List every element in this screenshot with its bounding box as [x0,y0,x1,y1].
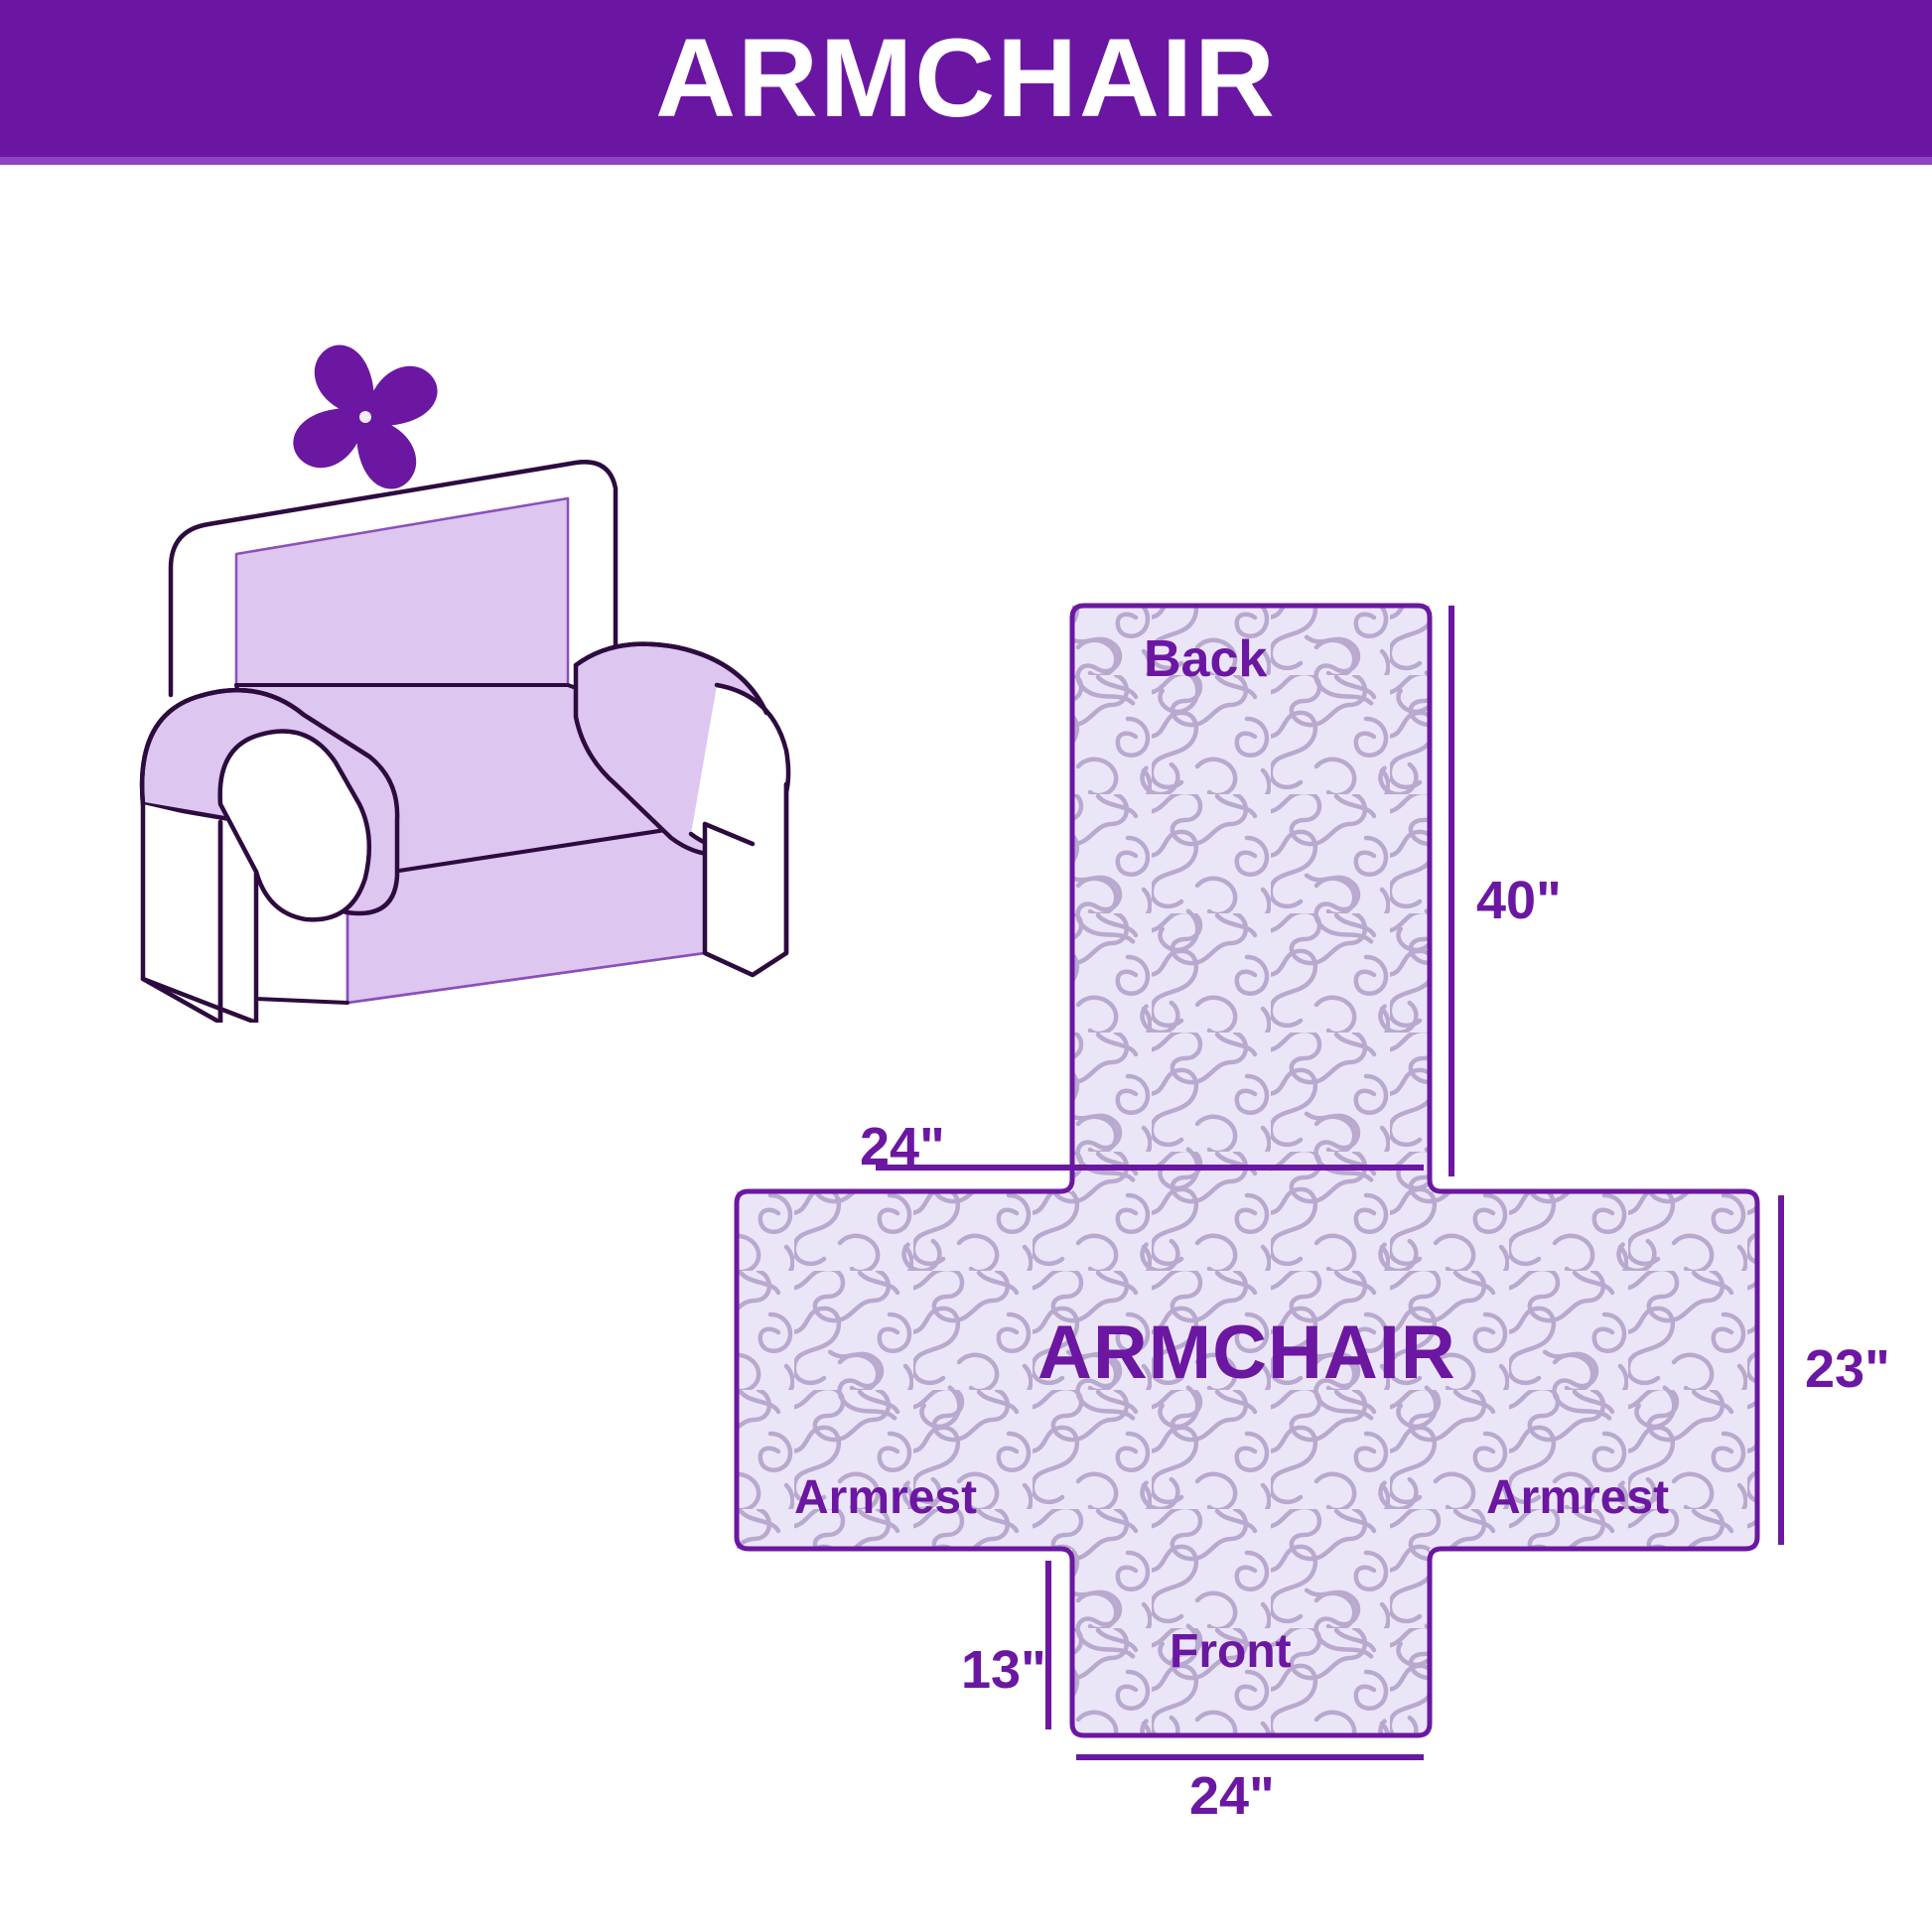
header-banner-underline [0,157,1932,165]
slipcover-cross-diagram [556,556,1932,1932]
dimension-label-front-height: 13" [961,1643,1046,1697]
panel-label-armrest-right: Armrest [1486,1474,1669,1522]
diagram-page: ARMCHAIR [0,0,1932,1932]
page-title: ARMCHAIR [0,0,1932,157]
dimension-label-armrest-height: 23" [1805,1342,1890,1396]
fan-blade-icon [293,345,437,488]
panel-label-armrest-left: Armrest [794,1474,977,1522]
dimension-label-back-width: 24" [860,1120,945,1173]
diagram-center-label: ARMCHAIR [1037,1315,1456,1391]
dimension-label-back-height: 40" [1476,874,1562,927]
panel-label-front: Front [1170,1628,1292,1676]
panel-label-back: Back [1144,633,1267,685]
dimension-label-front-width: 24" [1189,1769,1275,1823]
